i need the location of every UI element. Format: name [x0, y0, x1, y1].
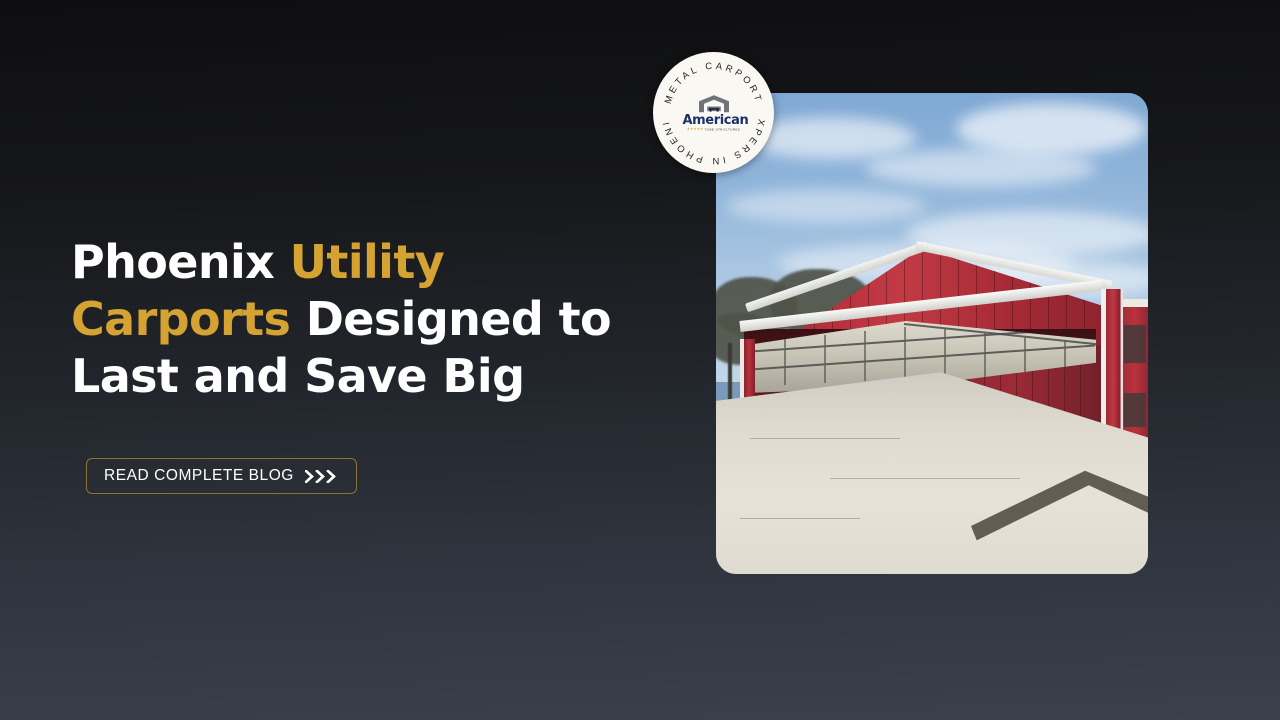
logo-stars: ★★★★★: [687, 128, 704, 131]
page-title: Phoenix Utility Carports Designed to Las…: [71, 234, 631, 405]
hero-copy-block: Phoenix Utility Carports Designed to Las…: [71, 234, 631, 405]
side-opening: [1124, 393, 1146, 427]
american-logo: American ★★★★★ TUBE STRUCTURES: [683, 94, 745, 132]
red-metal-carport-photo: [716, 93, 1148, 574]
logo-subtext-row: ★★★★★ TUBE STRUCTURES: [683, 128, 745, 132]
title-segment-one: Phoenix: [71, 235, 290, 289]
cta-button-label: READ COMPLETE BLOG: [104, 467, 294, 485]
company-seal-badge: METAL CARPORT XPERS IN PHOENI American ★…: [653, 52, 774, 173]
triple-chevron-right-icon: [305, 470, 339, 483]
logo-wordmark: American: [683, 114, 745, 127]
side-structure-trim: [1120, 299, 1148, 307]
read-complete-blog-button[interactable]: READ COMPLETE BLOG: [86, 458, 357, 494]
logo-subtext: TUBE STRUCTURES: [705, 127, 741, 131]
photo-scene: [716, 93, 1148, 574]
side-opening: [1124, 325, 1146, 363]
carport-building-icon: [696, 94, 732, 113]
